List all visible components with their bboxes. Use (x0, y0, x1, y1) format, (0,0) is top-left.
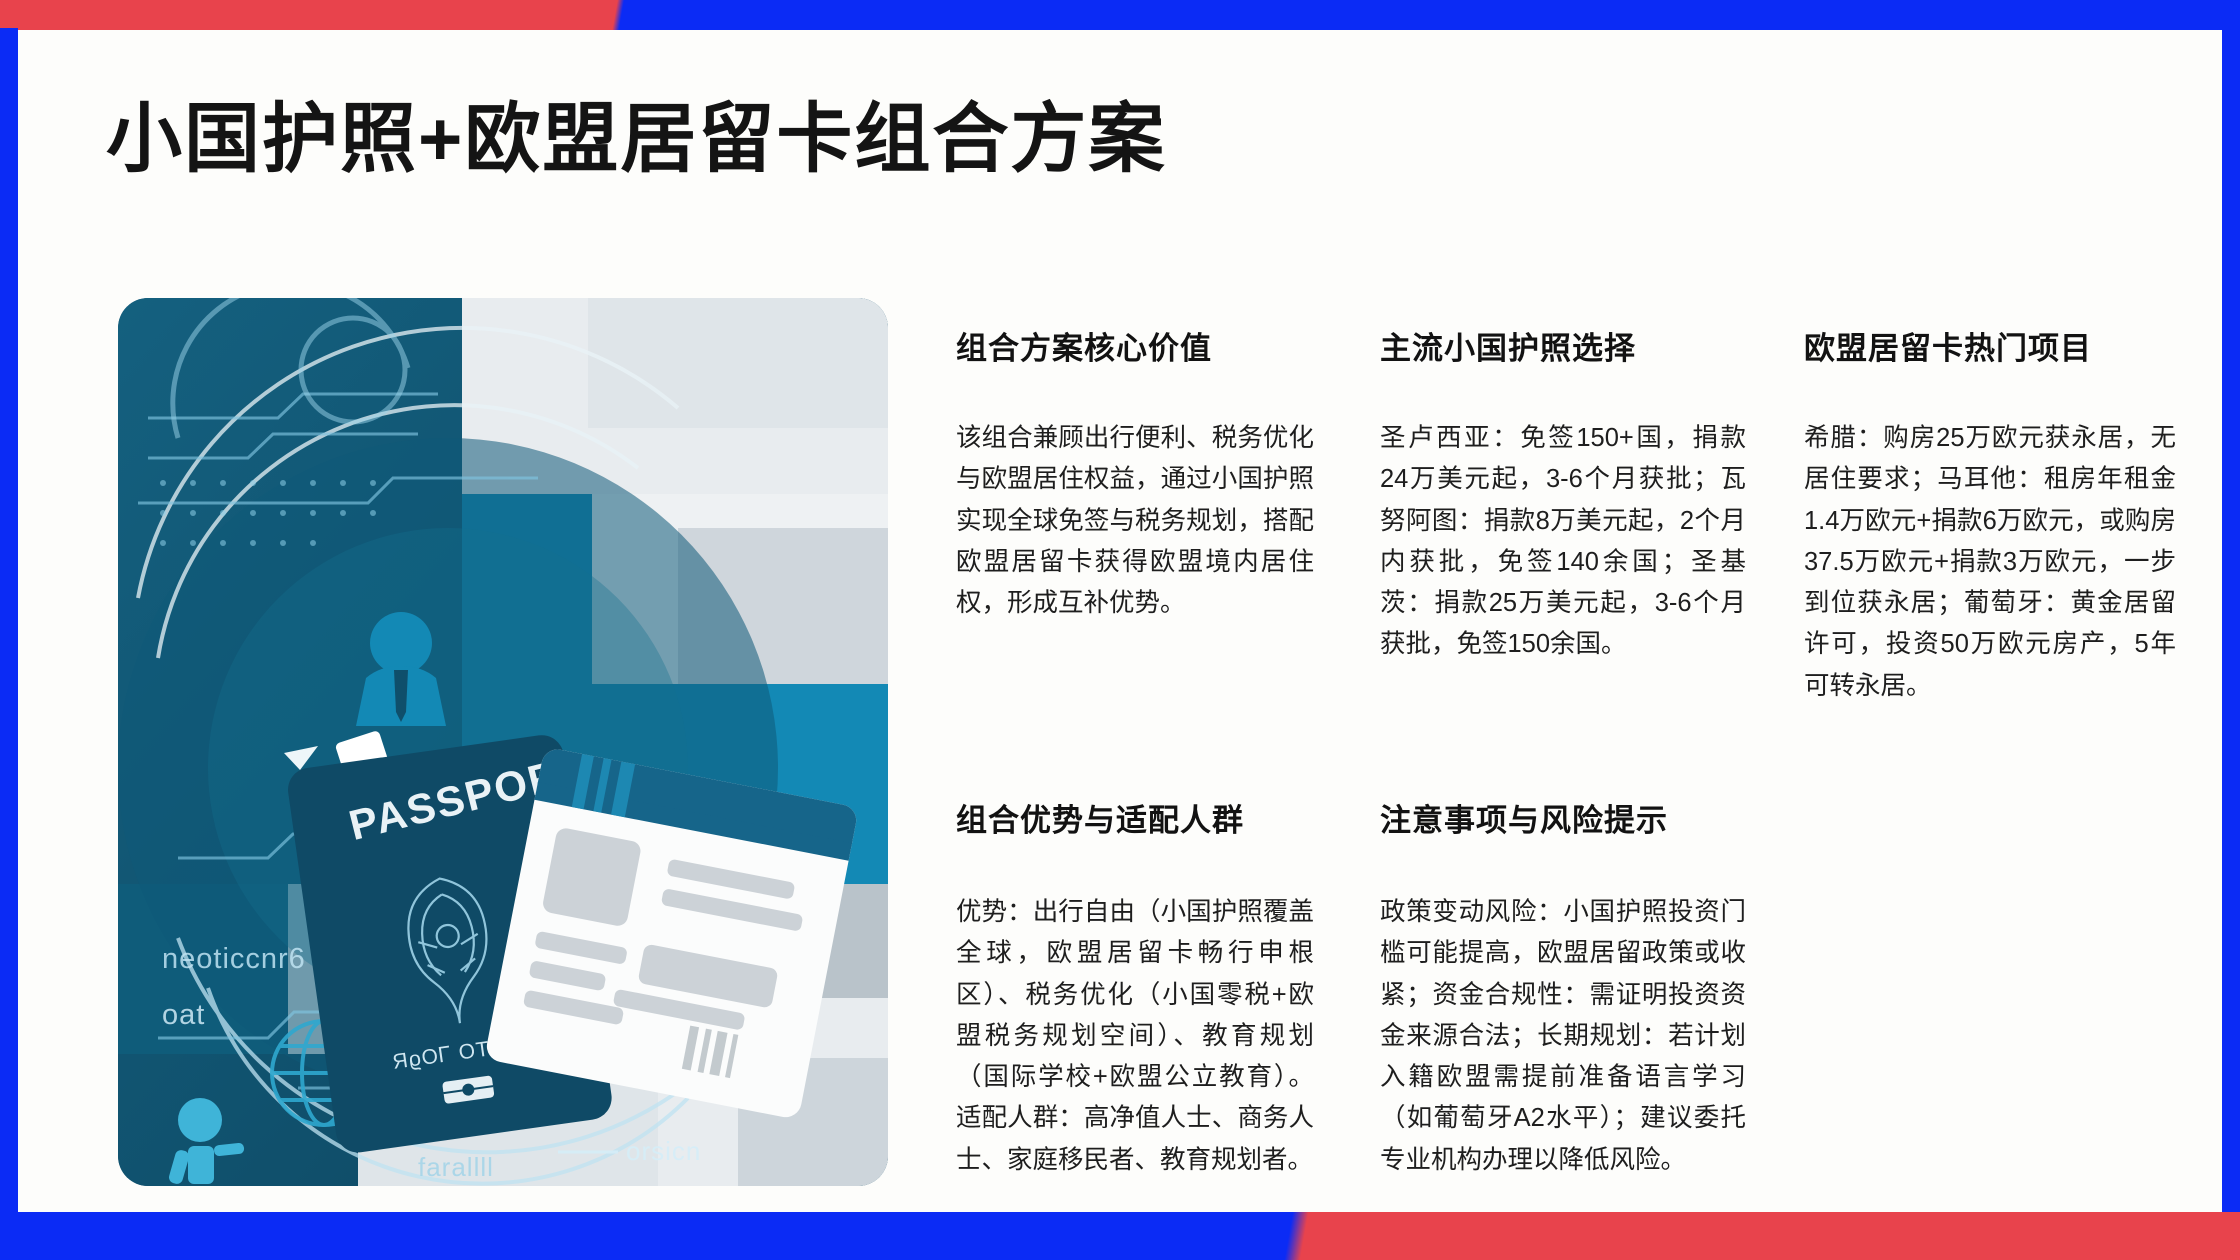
section-heading-passport-options: 主流小国护照选择 (1380, 323, 1636, 368)
decor-text-4: orsicn (626, 1136, 701, 1166)
decor-text-2: oat (162, 999, 205, 1031)
slide-canvas: 小国护照+欧盟居留卡组合方案 (18, 30, 2222, 1212)
section-heading-advantages-and-audience: 组合优势与适配人群 (956, 795, 1244, 840)
passport-and-residence-card-illustration: neoticcnr6 oat farallll orsicn (118, 298, 888, 1186)
residence-card (484, 747, 859, 1120)
decor-text-3: farallll (418, 1152, 494, 1182)
page-title: 小国护照+欧盟居留卡组合方案 (106, 98, 1166, 182)
section-body-eu-residence-programs: 希腊：购房25万欧元获永居，无居住要求；马耳他：租房年租金1.4万欧元+捐款6万… (1804, 418, 2176, 707)
section-body-advantages-and-audience: 优势：出行自由（小国护照覆盖全球，欧盟居留卡畅行申根区）、税务优化（小国零税+欧… (956, 892, 1314, 1181)
decor-text-1: neoticcnr6 (162, 943, 306, 975)
illustration-svg: neoticcnr6 oat farallll orsicn (118, 298, 888, 1186)
section-body-risks-and-notes: 政策变动风险：小国护照投资门槛可能提高，欧盟居留政策或收紧；资金合规性：需证明投… (1380, 892, 1746, 1181)
decorative-top-bar (0, 0, 2240, 30)
section-heading-core-value: 组合方案核心价值 (956, 323, 1212, 368)
section-heading-risks-and-notes: 注意事项与风险提示 (1380, 795, 1668, 840)
decorative-left-bar (0, 28, 18, 1218)
decorative-bottom-bar (0, 1212, 2240, 1260)
decorative-right-bar (2222, 28, 2240, 1218)
section-body-passport-options: 圣卢西亚：免签150+国，捐款24万美元起，3-6个月获批；瓦努阿图：捐款8万美… (1380, 418, 1746, 666)
section-body-core-value: 该组合兼顾出行便利、税务优化与欧盟居住权益，通过小国护照实现全球免签与税务规划，… (956, 418, 1314, 624)
section-heading-eu-residence-programs: 欧盟居留卡热门项目 (1804, 323, 2092, 368)
